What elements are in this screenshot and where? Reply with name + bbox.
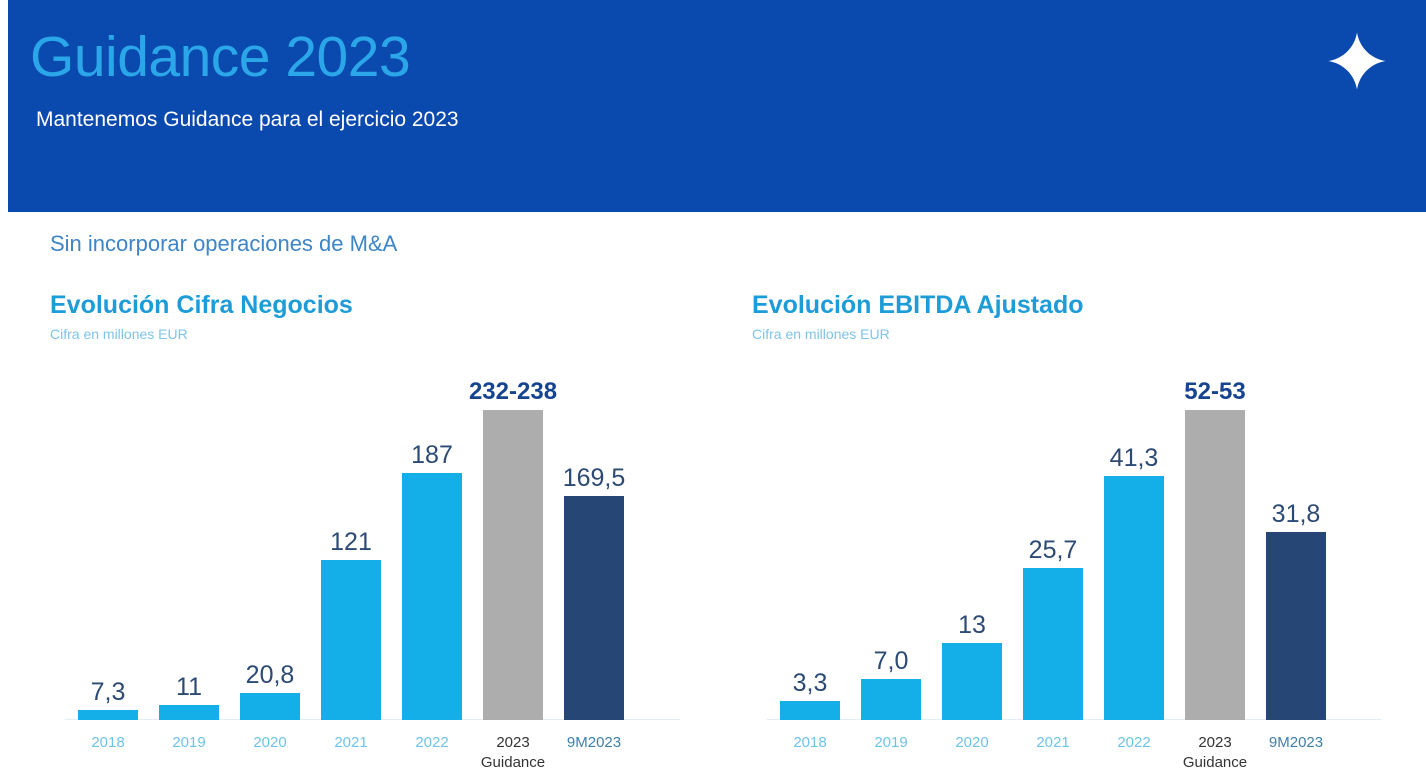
bar-2023-guidance[interactable]	[1185, 410, 1245, 720]
bar-value-label: 169,5	[563, 464, 626, 492]
panel-ebitda-ajustado: Evolución EBITDA Ajustado Cifra en millo…	[752, 290, 1412, 773]
bar-group: 20,8	[230, 353, 310, 720]
panel-subtitle-right: Cifra en millones EUR	[752, 325, 1412, 343]
bar-2018[interactable]	[78, 710, 138, 720]
bar-group: 11	[149, 353, 229, 720]
bar-9m2023[interactable]	[564, 496, 624, 720]
bar-2021[interactable]	[1023, 568, 1083, 720]
sub-note: Sin incorporar operaciones de M&A	[50, 229, 397, 259]
bar-2019[interactable]	[861, 679, 921, 720]
bar-group: 31,8	[1256, 353, 1336, 720]
x-axis-label-2018: 2018	[91, 733, 124, 753]
bar-chart-ebitda-ajustado: 3,320187,0201913202025,7202141,3202252-5…	[752, 353, 1412, 773]
x-axis-label-2023-guidance: 2023Guidance	[481, 733, 545, 773]
x-axis-label-2021: 2021	[1036, 733, 1069, 753]
bar-value-label: 11	[176, 673, 202, 701]
bar-value-label: 20,8	[246, 661, 295, 689]
slide-header: Guidance 2023 Mantenemos Guidance para e…	[8, 0, 1426, 212]
x-axis-label-2019: 2019	[172, 733, 205, 753]
bar-2020[interactable]	[240, 693, 300, 720]
bar-2022[interactable]	[1104, 476, 1164, 720]
bar-group: 187	[392, 353, 472, 720]
bar-value-label: 31,8	[1272, 500, 1321, 528]
bar-9m2023[interactable]	[1266, 532, 1326, 720]
bar-group: 7,0	[851, 353, 931, 720]
bar-group: 3,3	[770, 353, 850, 720]
bar-value-label: 41,3	[1110, 444, 1159, 472]
bar-value-label: 7,3	[91, 678, 126, 706]
x-axis-label-2019: 2019	[874, 733, 907, 753]
bar-group: 41,3	[1094, 353, 1174, 720]
page-title: Guidance 2023	[30, 22, 410, 92]
bar-2022[interactable]	[402, 473, 462, 720]
panel-title-right: Evolución EBITDA Ajustado	[752, 290, 1412, 320]
bar-group: 13	[932, 353, 1012, 720]
bar-2021[interactable]	[321, 560, 381, 720]
bar-2020[interactable]	[942, 643, 1002, 720]
x-axis-label-2022: 2022	[415, 733, 448, 753]
bar-chart-cifra-negocios: 7,3201811201920,8202012120211872022232-2…	[50, 353, 710, 773]
x-axis-label-9m2023: 9M2023	[1269, 733, 1323, 753]
bar-value-label: 7,0	[874, 647, 909, 675]
x-axis-label-2023-guidance: 2023Guidance	[1183, 733, 1247, 773]
bar-group: 52-53	[1175, 353, 1255, 720]
bar-2018[interactable]	[780, 701, 840, 720]
x-axis-label-2021: 2021	[334, 733, 367, 753]
bar-value-label: 232-238	[469, 378, 557, 406]
bar-value-label: 52-53	[1184, 378, 1245, 406]
panel-subtitle-left: Cifra en millones EUR	[50, 325, 710, 343]
bar-value-label: 3,3	[793, 669, 828, 697]
bar-group: 232-238	[473, 353, 553, 720]
panel-cifra-negocios: Evolución Cifra Negocios Cifra en millon…	[50, 290, 710, 773]
bar-group: 121	[311, 353, 391, 720]
x-axis-label-9m2023: 9M2023	[567, 733, 621, 753]
four-point-star-logo-icon	[1326, 30, 1388, 92]
bar-2023-guidance[interactable]	[483, 410, 543, 720]
bar-group: 169,5	[554, 353, 634, 720]
slide-root: Guidance 2023 Mantenemos Guidance para e…	[0, 0, 1426, 780]
x-axis-label-2022: 2022	[1117, 733, 1150, 753]
x-axis-label-2020: 2020	[955, 733, 988, 753]
bar-2019[interactable]	[159, 705, 219, 720]
panel-title-left: Evolución Cifra Negocios	[50, 290, 710, 320]
x-axis-label-2018: 2018	[793, 733, 826, 753]
page-subtitle: Mantenemos Guidance para el ejercicio 20…	[36, 105, 459, 135]
bar-group: 25,7	[1013, 353, 1093, 720]
bar-value-label: 25,7	[1029, 536, 1078, 564]
bar-value-label: 121	[330, 528, 372, 556]
bar-value-label: 13	[958, 611, 986, 639]
bar-group: 7,3	[68, 353, 148, 720]
bar-value-label: 187	[411, 441, 453, 469]
x-axis-label-2020: 2020	[253, 733, 286, 753]
